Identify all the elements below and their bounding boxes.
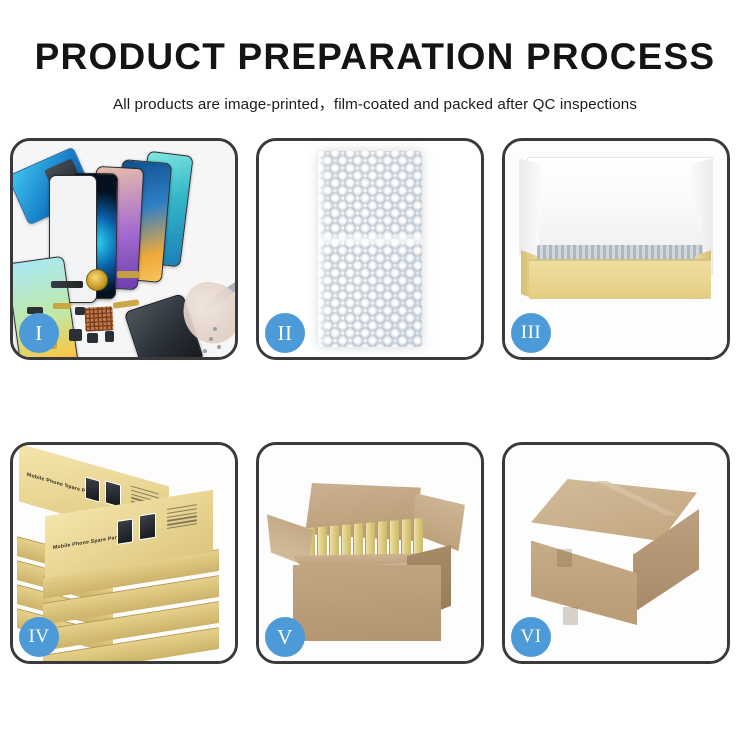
screw-icon	[213, 327, 217, 331]
copper-coil-icon	[86, 269, 108, 291]
box-front-edge	[529, 259, 711, 261]
screw-icon	[217, 345, 221, 349]
carton-hand-hole	[563, 607, 578, 625]
pack-edge	[318, 151, 327, 347]
chip-part-icon	[105, 331, 114, 342]
screw-icon	[203, 349, 207, 353]
step-badge-4: IV	[19, 617, 59, 657]
copper-mesh-icon	[84, 306, 113, 331]
step-panel-4: Mobile Phone Spare Parts Mobile Phone Sp…	[10, 442, 238, 664]
page-title: PRODUCT PREPARATION PROCESS	[0, 38, 750, 75]
flex-cable-icon	[117, 271, 139, 278]
flex-cable-icon	[53, 303, 71, 309]
chip-part-icon	[87, 333, 98, 343]
step-badge-5: V	[265, 617, 305, 657]
infographic-root: PRODUCT PREPARATION PROCESS All products…	[0, 0, 750, 750]
step-badge-1: I	[19, 313, 59, 353]
chip-part-icon	[75, 307, 85, 315]
box-spec-lines	[167, 504, 197, 531]
step-badge-6: VI	[511, 617, 551, 657]
box-phone-graphic	[85, 476, 100, 502]
step-badge-3: III	[511, 313, 551, 353]
chip-part-icon	[69, 329, 82, 341]
bubble-wrap-pack-icon	[318, 151, 422, 347]
box-phone-graphic	[117, 518, 133, 545]
page-subtitle: All products are image-printed，film-coat…	[0, 92, 750, 114]
process-steps-grid: I II	[10, 138, 742, 686]
step-panel-5: V	[256, 442, 484, 664]
step-panel-2: II	[256, 138, 484, 360]
screw-icon	[209, 337, 213, 341]
carton-front-face	[293, 565, 441, 641]
box-phone-graphic	[139, 513, 156, 541]
step-panel-6: VI	[502, 442, 730, 664]
step-panel-1: I	[10, 138, 238, 360]
step-badge-2: II	[265, 313, 305, 353]
carton-front-face	[531, 529, 637, 625]
bubble-texture	[318, 151, 422, 347]
pack-highlight	[318, 233, 422, 247]
header: PRODUCT PREPARATION PROCESS All products…	[0, 0, 750, 114]
speaker-part-icon	[51, 281, 83, 288]
step-panel-3: III	[502, 138, 730, 360]
carton-hand-hole	[557, 549, 572, 567]
kraft-box-body-icon	[529, 259, 711, 299]
